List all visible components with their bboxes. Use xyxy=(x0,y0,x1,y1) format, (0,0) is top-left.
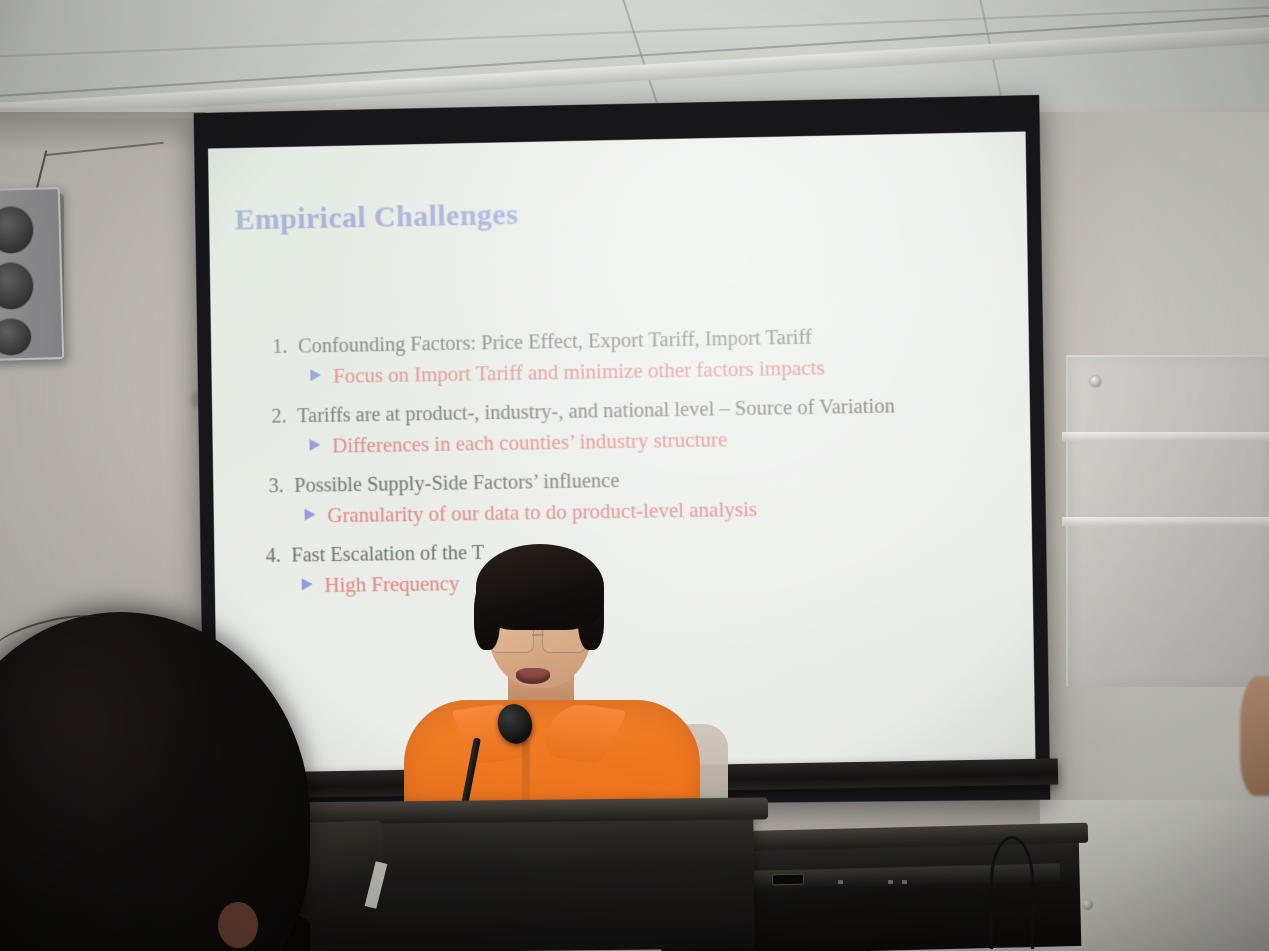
slide-sub-bullet-text: Granularity of our data to do product-le… xyxy=(327,497,757,527)
whiteboard-rail xyxy=(1062,517,1269,526)
slide-item-text: Tariffs are at product-, industry-, and … xyxy=(297,395,895,427)
slide-item-number: 2. xyxy=(271,405,297,428)
edge-person-partial xyxy=(1240,676,1269,796)
desk-indicator-light xyxy=(902,880,907,884)
slide-numbered-item: 2.Tariffs are at product-, industry-, an… xyxy=(271,393,1012,428)
slide-sub-bullet-text: Focus on Import Tariff and minimize othe… xyxy=(333,355,825,387)
triangle-bullet-icon xyxy=(309,439,320,451)
slide-sub-bullet: Focus on Import Tariff and minimize othe… xyxy=(310,352,1011,389)
presenter-mouth xyxy=(516,668,550,684)
presenter-hair xyxy=(476,544,604,630)
desk-indicator-light xyxy=(888,880,893,884)
desk-port-icon xyxy=(772,874,804,886)
slide-item-number: 4. xyxy=(266,545,292,568)
slide-item-number: 1. xyxy=(272,336,298,359)
desk-indicator-light xyxy=(838,880,843,884)
slide-sub-bullet: Granularity of our data to do product-le… xyxy=(304,493,1013,528)
audience-ear xyxy=(218,902,258,948)
slide-title: Empirical Challenges xyxy=(235,198,519,237)
slide-numbered-item: 3.Possible Supply-Side Factors’ influenc… xyxy=(268,464,1013,498)
lecture-photo-scene: Empirical Challenges 1.Confounding Facto… xyxy=(0,0,1269,951)
slide-sub-bullet: Differences in each counties’ industry s… xyxy=(309,423,1012,459)
power-cable xyxy=(990,836,1034,949)
slide-item-text: Confounding Factors: Price Effect, Expor… xyxy=(298,327,812,358)
glasses-bridge xyxy=(532,634,544,636)
slide-item-text: Possible Supply-Side Factors’ influence xyxy=(294,470,619,497)
screw-icon xyxy=(1090,376,1101,387)
slide-sub-bullet-text: Differences in each counties’ industry s… xyxy=(332,427,727,457)
whiteboard-rail xyxy=(1062,432,1269,441)
triangle-bullet-icon xyxy=(302,578,313,590)
triangle-bullet-icon xyxy=(310,369,321,381)
screw-icon xyxy=(1082,899,1093,910)
wall-shadow xyxy=(0,112,205,152)
slide-item-number: 3. xyxy=(268,475,294,498)
triangle-bullet-icon xyxy=(305,509,316,521)
